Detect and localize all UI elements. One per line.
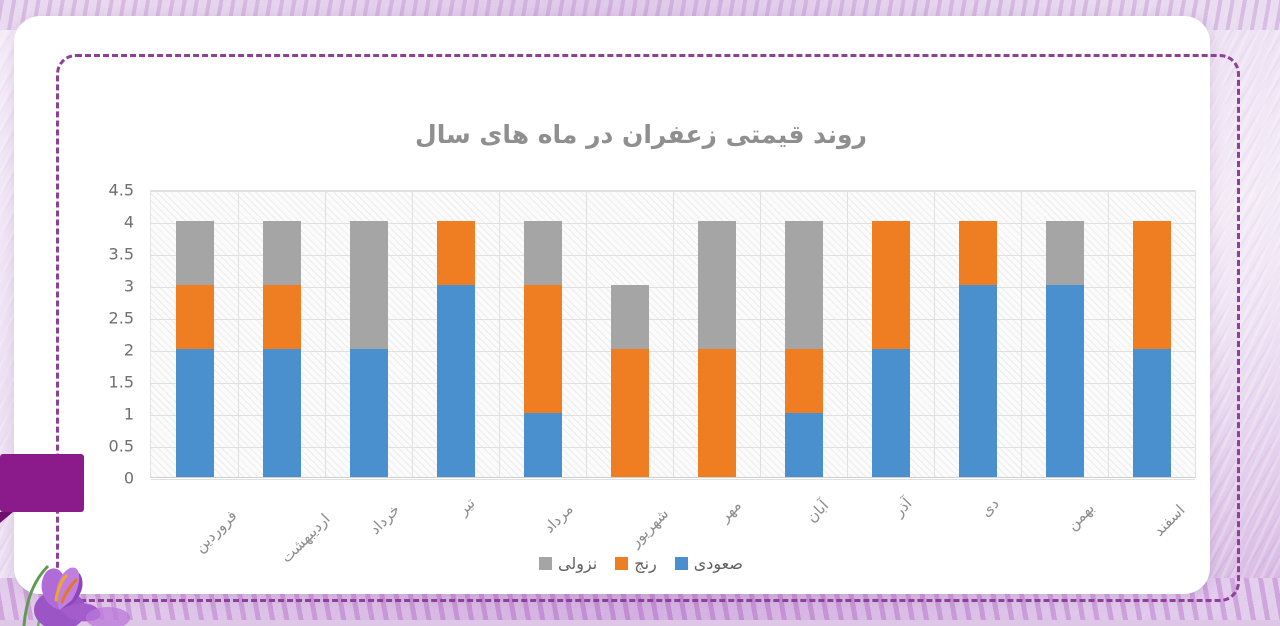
y-axis-tick: 3.5 [109, 245, 134, 264]
chart-title: روند قیمتی زعفران در ماه های سال [86, 94, 1196, 149]
y-axis-tick: 1.5 [109, 373, 134, 392]
x-axis-label: بهمن [1063, 499, 1098, 534]
bar-series-group [151, 191, 1195, 477]
bar-stack[interactable] [785, 221, 823, 477]
bar-segment[interactable] [611, 349, 649, 477]
bar-stack[interactable] [698, 221, 736, 477]
bar-segment[interactable] [785, 413, 823, 477]
y-axis-tick: 4.5 [109, 181, 134, 200]
bar-group[interactable] [760, 191, 847, 477]
bar-stack[interactable] [524, 221, 562, 477]
legend-color-swatch [539, 557, 552, 570]
bar-segment[interactable] [350, 221, 388, 349]
y-axis-tick: 2.5 [109, 309, 134, 328]
x-axis-label: آذر [890, 494, 916, 520]
bar-stack[interactable] [176, 221, 214, 477]
bar-stack[interactable] [611, 285, 649, 477]
bar-segment[interactable] [698, 221, 736, 349]
x-axis-label: فروردین [190, 506, 240, 556]
bar-segment[interactable] [263, 285, 301, 349]
bar-group[interactable] [499, 191, 586, 477]
bar-segment[interactable] [872, 221, 910, 349]
y-axis-tick: 2 [124, 341, 134, 360]
bar-segment[interactable] [785, 349, 823, 413]
legend-label: رنج [634, 554, 657, 573]
x-axis-label: دی [977, 495, 1003, 521]
chart-container: روند قیمتی زعفران در ماه های سال 4.543.5… [86, 94, 1196, 594]
legend-item[interactable]: نزولی [539, 554, 597, 573]
legend-label: صعودی [694, 554, 743, 573]
bar-segment[interactable] [350, 349, 388, 477]
y-axis-tick: 3 [124, 277, 134, 296]
legend-color-swatch [675, 557, 688, 570]
bar-segment[interactable] [176, 349, 214, 477]
legend-color-swatch [615, 557, 628, 570]
plot-wrapper: 4.543.532.521.510.50 فروردیناردیبهشتخردا… [86, 190, 1196, 490]
bar-segment[interactable] [1046, 285, 1084, 477]
legend-item[interactable]: رنج [615, 554, 657, 573]
bar-group[interactable] [325, 191, 412, 477]
y-axis-tick: 1 [124, 405, 134, 424]
bar-stack[interactable] [1046, 221, 1084, 477]
bar-segment[interactable] [263, 221, 301, 285]
bar-segment[interactable] [1133, 349, 1171, 477]
bar-group[interactable] [412, 191, 499, 477]
y-axis-tick: 0.5 [109, 437, 134, 456]
chart-legend: صعودیرنجنزولی [86, 554, 1196, 573]
bar-segment[interactable] [611, 285, 649, 349]
y-axis: 4.543.532.521.510.50 [86, 190, 142, 490]
x-axis-label: اسفند [1150, 501, 1189, 540]
bar-segment[interactable] [524, 413, 562, 477]
bar-stack[interactable] [959, 221, 997, 477]
legend-item[interactable]: صعودی [675, 554, 743, 573]
x-axis-label: آبان [802, 496, 832, 526]
bar-segment[interactable] [698, 349, 736, 477]
bar-segment[interactable] [872, 349, 910, 477]
slide-card: روند قیمتی زعفران در ماه های سال 4.543.5… [14, 16, 1210, 594]
plot-area [150, 190, 1196, 478]
bar-segment[interactable] [1046, 221, 1084, 285]
bar-segment[interactable] [263, 349, 301, 477]
bar-group[interactable] [673, 191, 760, 477]
bar-group[interactable] [151, 191, 238, 477]
bar-segment[interactable] [176, 285, 214, 349]
bar-stack[interactable] [872, 221, 910, 477]
x-axis-label: شهریور [627, 505, 673, 551]
bar-stack[interactable] [350, 221, 388, 477]
bar-segment[interactable] [1133, 221, 1171, 349]
y-axis-tick: 4 [124, 213, 134, 232]
bar-group[interactable] [1108, 191, 1195, 477]
x-axis-label: تیر [454, 494, 479, 519]
x-axis-label: مرداد [540, 500, 577, 537]
bar-segment[interactable] [437, 285, 475, 477]
bar-segment[interactable] [785, 221, 823, 349]
x-axis-label: مهر [715, 496, 744, 525]
bar-segment[interactable] [524, 221, 562, 285]
bar-stack[interactable] [437, 221, 475, 477]
bar-group[interactable] [1021, 191, 1108, 477]
purple-ribbon-tab [0, 454, 84, 512]
bar-group[interactable] [586, 191, 673, 477]
bar-segment[interactable] [176, 221, 214, 285]
bar-segment[interactable] [437, 221, 475, 285]
bar-group[interactable] [934, 191, 1021, 477]
bar-segment[interactable] [959, 285, 997, 477]
bar-segment[interactable] [524, 285, 562, 413]
legend-label: نزولی [558, 554, 597, 573]
bar-segment[interactable] [959, 221, 997, 285]
x-axis-label: خرداد [366, 500, 404, 538]
bar-stack[interactable] [1133, 221, 1171, 477]
y-axis-tick: 0 [124, 469, 134, 488]
bar-group[interactable] [238, 191, 325, 477]
bar-stack[interactable] [263, 221, 301, 477]
bar-group[interactable] [847, 191, 934, 477]
